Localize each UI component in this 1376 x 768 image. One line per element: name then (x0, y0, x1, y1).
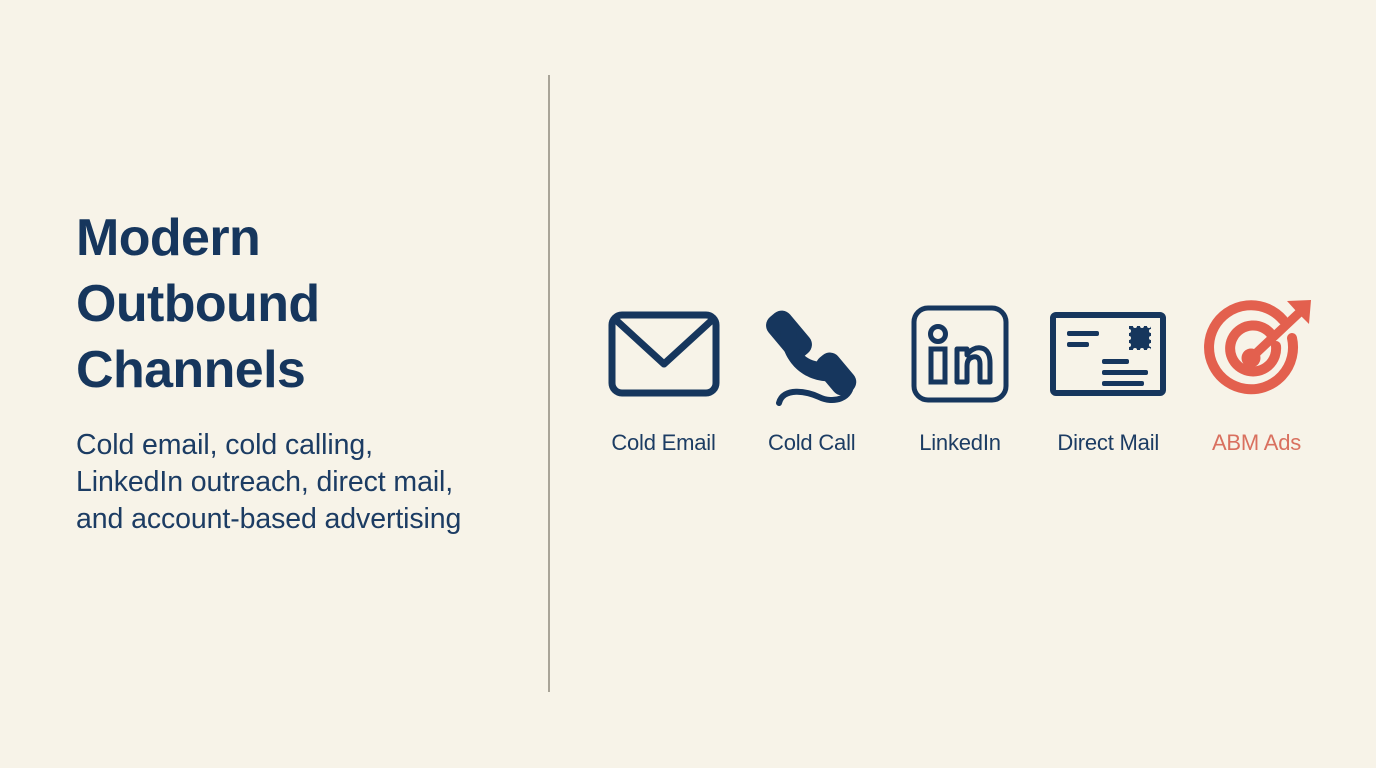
channel-item-cold-call[interactable]: Cold Call (740, 300, 883, 456)
vertical-divider (548, 75, 550, 692)
phone-handset-icon (757, 300, 867, 408)
target-arrow-icon (1199, 300, 1315, 408)
page-subtitle: Cold email, cold calling, LinkedIn outre… (76, 427, 496, 538)
channel-label-linkedin: LinkedIn (919, 430, 1001, 456)
page-title: Modern Outbound Channels (76, 205, 496, 403)
slide-canvas: Modern Outbound Channels Cold email, col… (0, 0, 1376, 768)
channel-label-direct-mail: Direct Mail (1057, 430, 1159, 456)
left-text-panel: Modern Outbound Channels Cold email, col… (76, 205, 496, 538)
channel-list: Cold Email Cold Call (592, 300, 1328, 456)
channel-label-abm-ads: ABM Ads (1212, 430, 1301, 456)
channel-item-linkedin[interactable]: LinkedIn (889, 300, 1032, 456)
mail-letter-icon (1050, 300, 1166, 408)
channel-label-cold-email: Cold Email (611, 430, 715, 456)
channel-item-cold-email[interactable]: Cold Email (592, 300, 735, 456)
channel-item-abm-ads[interactable]: ABM Ads (1185, 300, 1328, 456)
envelope-icon (608, 300, 720, 408)
linkedin-icon (910, 300, 1010, 408)
channel-item-direct-mail[interactable]: Direct Mail (1037, 300, 1180, 456)
channel-label-cold-call: Cold Call (768, 430, 855, 456)
